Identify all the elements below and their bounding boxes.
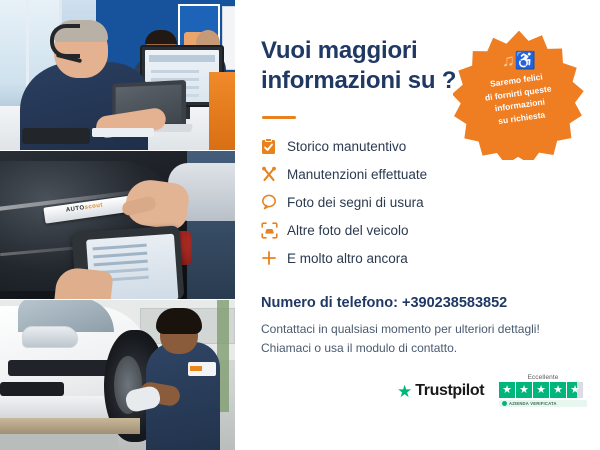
trustpilot-logo: ★ Trustpilot [397,382,484,400]
headset-icon [50,24,80,58]
list-item-label: Altre foto del veicolo [287,223,409,238]
phone-number-line[interactable]: Numero di telefono: +390238583852 [261,295,507,311]
verified-company-badge: AZIENDA VERIFICATA [499,400,587,407]
list-item[interactable]: Foto dei segni di usura [261,188,511,216]
star-partial-icon: ★ [567,382,583,398]
star-filled-icon: ★ [516,382,532,398]
contact-paragraph-line-2: Chiamaci o usa il modulo di contatto. [261,339,581,358]
star-filled-icon: ★ [533,382,549,398]
promo-banner: AUTOscout [0,0,600,450]
photo-column: AUTOscout [0,0,235,450]
gauge-brand-label: AUTO [66,205,86,214]
clipboard-check-icon [261,136,287,156]
trustpilot-rating-label: Eccellente [499,374,587,381]
trustpilot-rating[interactable]: ★ Trustpilot Eccellente ★ ★ ★ ★ ★ AZIEND… [397,374,587,420]
inspector-measuring-car-panel-photo: AUTOscout [0,151,235,299]
verified-company-label: AZIENDA VERIFICATA [509,401,557,406]
star-filled-icon: ★ [499,382,515,398]
title-underline-rule [262,116,296,119]
speech-bubble-icon [261,192,287,212]
contact-paragraph: Contattaci in qualsiasi momento per ulte… [261,320,581,358]
call-centre-agent-with-headset-photo [0,0,235,150]
list-item-label: E molto altro ancora [287,251,408,266]
trustpilot-score: Eccellente ★ ★ ★ ★ ★ AZIENDA VERIFICATA [499,374,587,407]
headset-icon: ♫♿ [453,52,585,69]
feature-list: Storico manutentivo Manutenzioni effettu… [261,132,511,272]
trustpilot-brand-label: Trustpilot [415,382,484,400]
star-filled-icon: ★ [550,382,566,398]
trustpilot-star-icon: ★ [397,383,412,400]
list-item[interactable]: E molto altro ancora [261,244,511,272]
trustpilot-stars: ★ ★ ★ ★ ★ [499,382,587,398]
scan-car-icon [261,220,287,240]
content-panel: Vuoi maggiori informazioni su ? ♫♿ Sarem… [235,0,600,450]
list-item-label: Storico manutentivo [287,139,406,154]
list-item[interactable]: Storico manutentivo [261,132,511,160]
list-item-label: Manutenzioni effettuate [287,167,427,182]
technician-inspecting-white-car-photo [0,300,235,450]
list-item[interactable]: Manutenzioni effettuate [261,160,511,188]
plus-icon [261,248,287,268]
list-item[interactable]: Altre foto del veicolo [261,216,511,244]
list-item-label: Foto dei segni di usura [287,195,424,210]
crossed-tools-icon [261,164,287,184]
gauge-brand-suffix: scout [84,202,103,211]
contact-paragraph-line-1: Contattaci in qualsiasi momento per ulte… [261,320,581,339]
verified-check-icon [502,401,507,406]
